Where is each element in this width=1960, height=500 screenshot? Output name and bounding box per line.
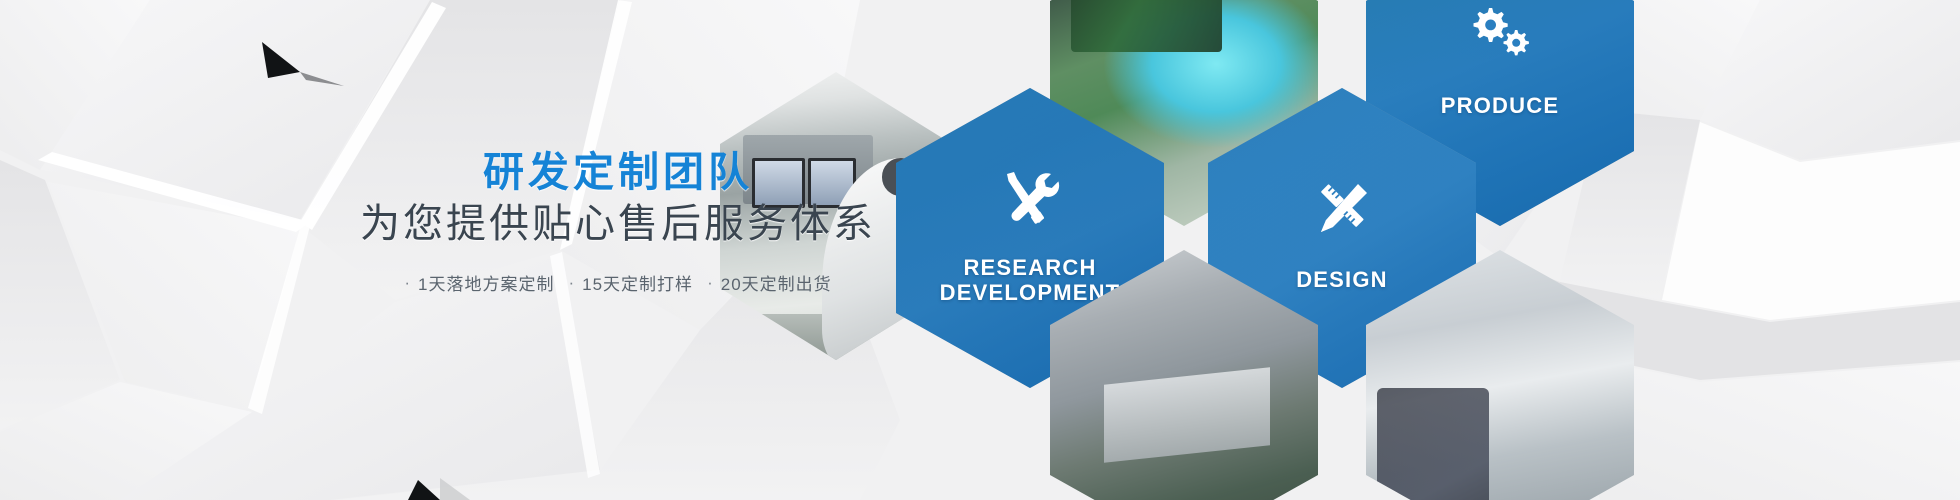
bullet-dot-icon: · <box>404 274 411 291</box>
bullet-label: 15天定制打样 <box>582 270 693 295</box>
pencil-ruler-icon <box>1311 180 1373 245</box>
feature-bullet-list: · 1天落地方案定制 · 15天定制打样 · 20天定制出货 <box>298 270 938 295</box>
list-item: · 1天落地方案定制 <box>404 270 554 295</box>
bullet-dot-icon: · <box>707 274 714 291</box>
list-item: · 20天定制出货 <box>707 270 832 295</box>
list-item: · 15天定制打样 <box>568 270 693 295</box>
hexagon-cluster: PRODUCE RESEARCH DEVE <box>880 0 1960 500</box>
promo-banner: 研发定制团队 为您提供贴心售后服务体系 · 1天落地方案定制 · 15天定制打样… <box>0 0 1960 500</box>
page-subtitle: 为您提供贴心售后服务体系 <box>298 200 938 248</box>
bullet-label: 1天落地方案定制 <box>418 270 554 295</box>
banner-copy: 研发定制团队 为您提供贴心售后服务体系 · 1天落地方案定制 · 15天定制打样… <box>298 148 938 295</box>
bullet-dot-icon: · <box>568 274 575 291</box>
wrench-screwdriver-icon <box>999 170 1061 235</box>
gears-icon <box>1465 6 1535 69</box>
bullet-label: 20天定制出货 <box>721 270 832 295</box>
page-title: 研发定制团队 <box>298 148 938 196</box>
hexagon-label: PRODUCE <box>1366 94 1634 119</box>
